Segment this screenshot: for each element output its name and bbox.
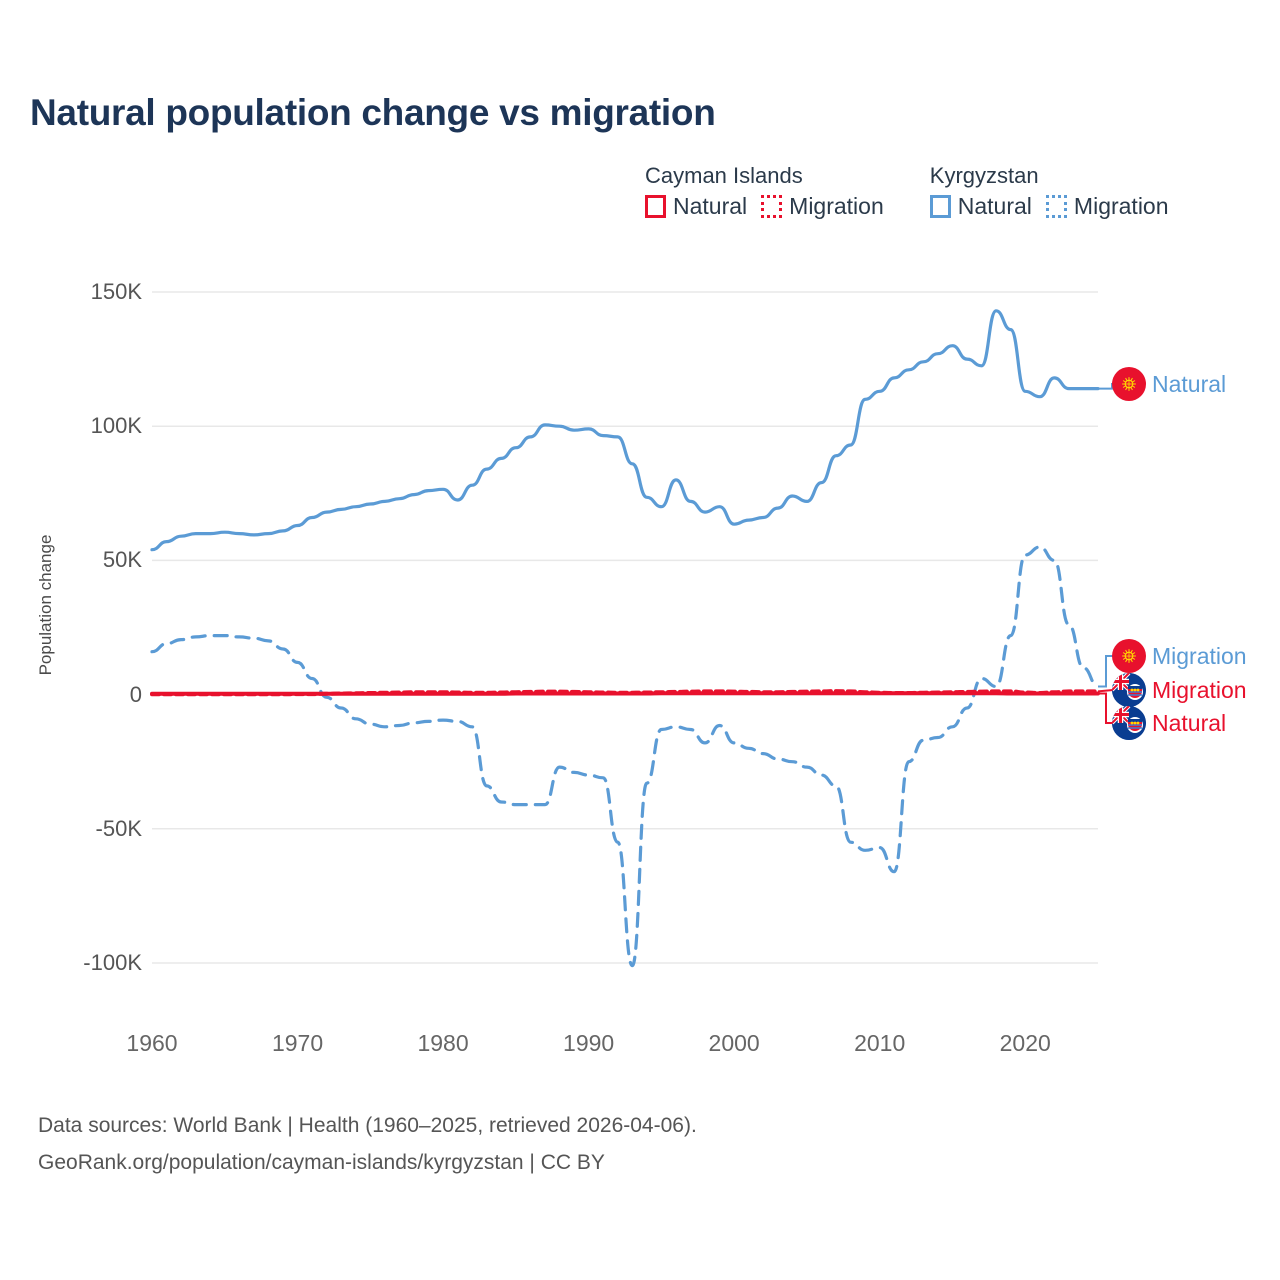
y-axis-tick-label: 150K — [22, 279, 142, 305]
series-line-kyrgyzstan-migration — [152, 547, 1098, 966]
y-axis-tick-label: -100K — [22, 950, 142, 976]
series-end-label-text: Migration — [1152, 643, 1247, 670]
footer-attribution: GeoRank.org/population/cayman-islands/ky… — [38, 1145, 697, 1182]
series-end-label-cayman-islands-migration[interactable]: Migration — [1112, 673, 1247, 707]
cayman-flag-svg — [1112, 706, 1146, 740]
sun-icon — [1122, 377, 1137, 392]
series-end-label-cayman-islands-natural[interactable]: Natural — [1112, 706, 1226, 740]
leader-line — [1098, 694, 1113, 724]
cayman-flag-svg — [1112, 673, 1146, 707]
footer-data-sources: Data sources: World Bank | Health (1960–… — [38, 1108, 697, 1145]
footer: Data sources: World Bank | Health (1960–… — [38, 1108, 697, 1182]
x-axis-tick-label: 1980 — [417, 1030, 468, 1057]
series-end-label-text: Migration — [1152, 677, 1247, 704]
cayman-islands-flag-icon — [1112, 706, 1146, 740]
leader-line — [1098, 656, 1113, 687]
cayman-islands-flag-icon — [1112, 673, 1146, 707]
y-axis-ticks: 150K100K50K0-50K-100K — [0, 0, 142, 1280]
x-axis-tick-label: 2020 — [1000, 1030, 1051, 1057]
leader-line — [1098, 690, 1113, 691]
y-axis-tick-label: -50K — [22, 816, 142, 842]
x-axis-tick-label: 2010 — [854, 1030, 905, 1057]
kyrgyzstan-flag-icon — [1112, 367, 1146, 401]
x-axis-tick-label: 2000 — [709, 1030, 760, 1057]
series-end-label-kyrgyzstan-natural[interactable]: Natural — [1112, 367, 1226, 401]
y-axis-tick-label: 0 — [22, 682, 142, 708]
leader-lines — [1098, 384, 1113, 723]
chart-plot-area — [0, 0, 1280, 1280]
y-axis-tick-label: 50K — [22, 547, 142, 573]
y-axis-tick-label: 100K — [22, 413, 142, 439]
sun-icon — [1122, 649, 1137, 664]
x-axis-tick-label: 1970 — [272, 1030, 323, 1057]
series-line-kyrgyzstan-natural — [152, 311, 1098, 550]
leader-line — [1098, 384, 1113, 389]
x-axis-tick-label: 1960 — [126, 1030, 177, 1057]
series-lines — [152, 311, 1098, 966]
kyrgyzstan-flag-icon — [1112, 639, 1146, 673]
series-end-label-text: Natural — [1152, 710, 1226, 737]
series-end-label-text: Natural — [1152, 371, 1226, 398]
x-axis-tick-label: 1990 — [563, 1030, 614, 1057]
gridlines — [152, 292, 1098, 963]
series-end-label-kyrgyzstan-migration[interactable]: Migration — [1112, 639, 1247, 673]
